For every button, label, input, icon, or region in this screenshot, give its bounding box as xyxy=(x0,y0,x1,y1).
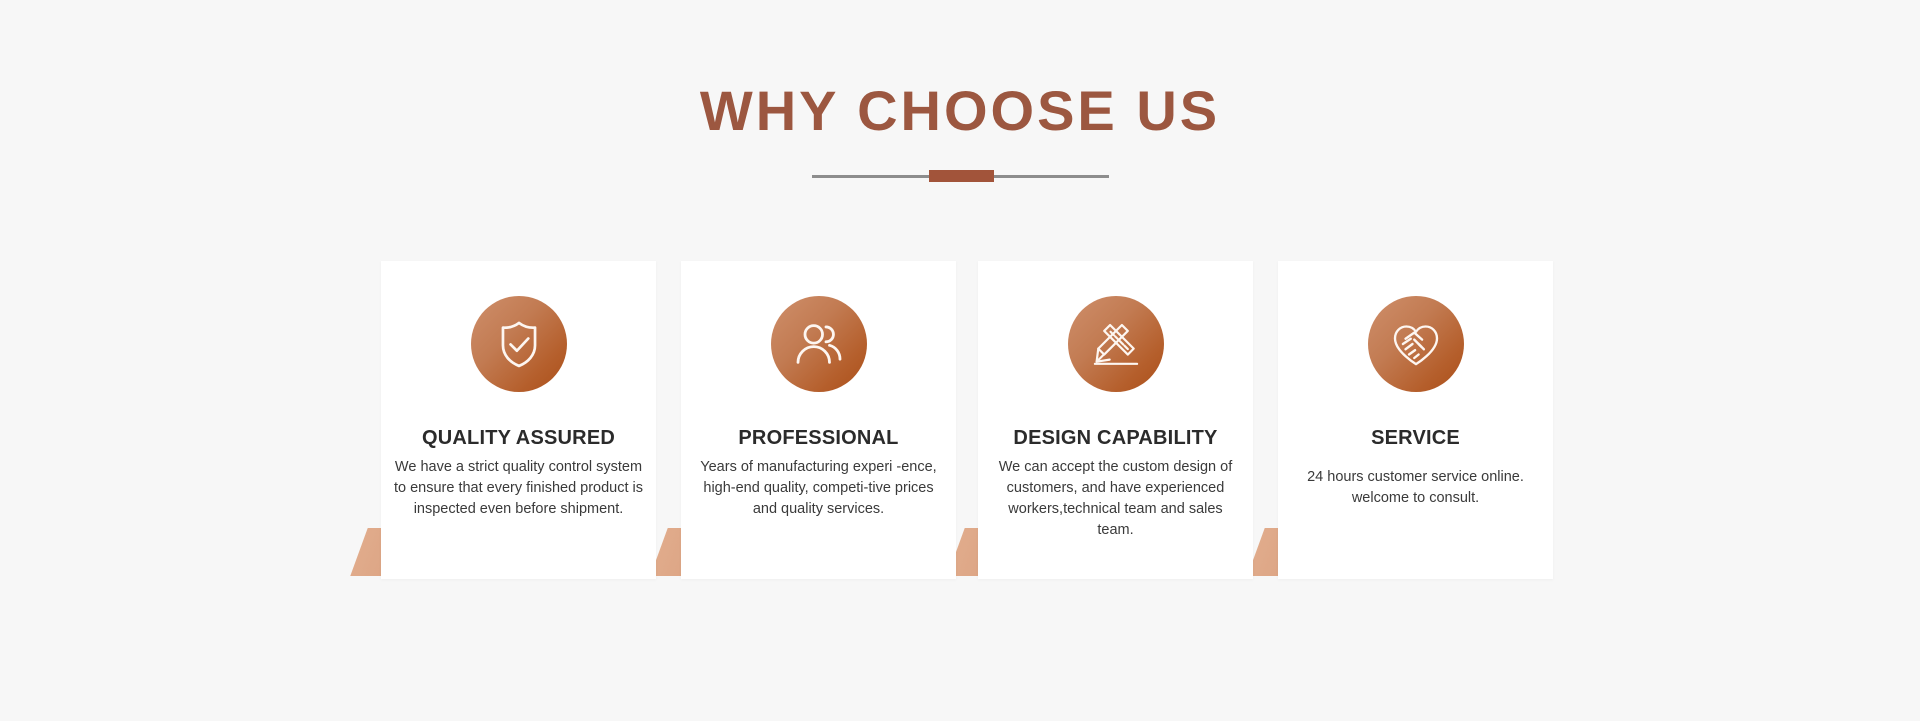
users-icon xyxy=(791,316,847,372)
card-title: DESIGN CAPABILITY xyxy=(978,426,1253,450)
card-title: SERVICE xyxy=(1278,426,1553,450)
card-icon-circle xyxy=(471,296,567,392)
feature-card-design-capability[interactable]: DESIGN CAPABILITY We can accept the cust… xyxy=(978,261,1253,621)
card-title: PROFESSIONAL xyxy=(681,426,956,450)
feature-card-quality-assured[interactable]: QUALITY ASSURED We have a strict quality… xyxy=(381,261,656,621)
card-icon-circle xyxy=(1068,296,1164,392)
card-body: SERVICE 24 hours customer service online… xyxy=(1278,261,1553,579)
divider-accent-block xyxy=(929,170,994,182)
pencil-ruler-icon xyxy=(1089,317,1143,371)
card-body: DESIGN CAPABILITY We can accept the cust… xyxy=(978,261,1253,579)
feature-card-service[interactable]: SERVICE 24 hours customer service online… xyxy=(1278,261,1553,621)
shield-check-icon xyxy=(492,317,546,371)
card-description: We can accept the custom design of custo… xyxy=(990,457,1241,541)
card-description: 24 hours customer service online. welcom… xyxy=(1290,467,1541,509)
feature-card-list: QUALITY ASSURED We have a strict quality… xyxy=(381,261,1556,621)
card-body: QUALITY ASSURED We have a strict quality… xyxy=(381,261,656,579)
feature-card-professional[interactable]: PROFESSIONAL Years of manufacturing expe… xyxy=(681,261,956,621)
card-body: PROFESSIONAL Years of manufacturing expe… xyxy=(681,261,956,579)
section-header: WHY CHOOSE US xyxy=(0,0,1920,182)
handshake-heart-icon xyxy=(1388,316,1444,372)
card-icon-circle xyxy=(1368,296,1464,392)
card-description: We have a strict quality control system … xyxy=(393,457,644,520)
card-description: Years of manufacturing experi -ence, hig… xyxy=(693,457,944,520)
page-title: WHY CHOOSE US xyxy=(0,0,1920,142)
title-divider xyxy=(812,170,1109,182)
card-title: QUALITY ASSURED xyxy=(381,426,656,450)
why-choose-us-section: WHY CHOOSE US QUALITY ASSURED W xyxy=(0,0,1920,721)
card-icon-circle xyxy=(771,296,867,392)
